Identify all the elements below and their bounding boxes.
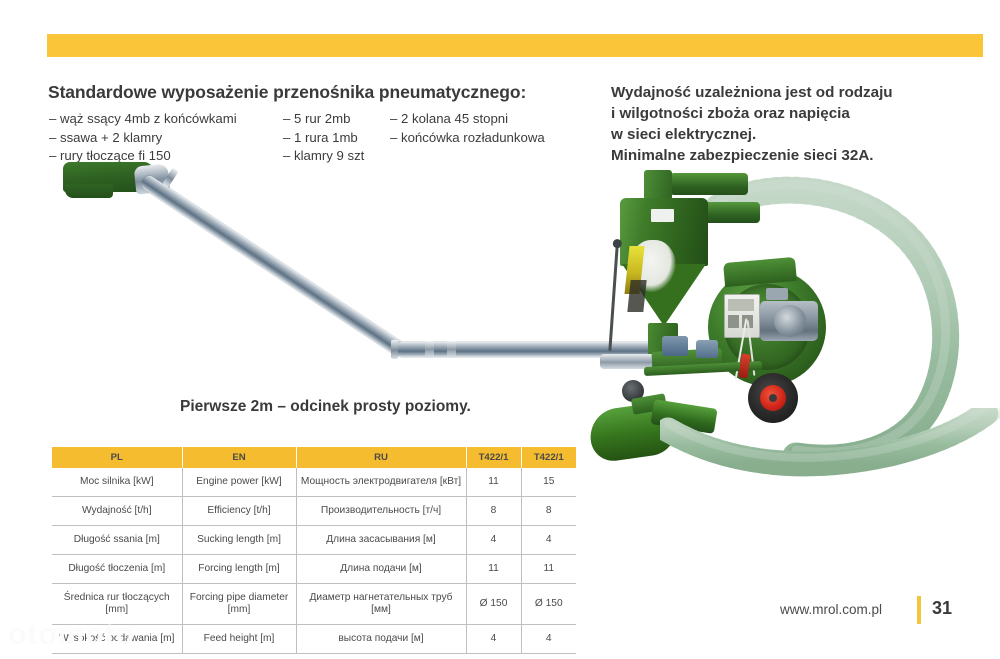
cell-value-1: 4 <box>466 526 521 555</box>
cell-value-1: 4 <box>466 625 521 654</box>
cell-ru: высота подачи [м] <box>296 625 466 654</box>
column-header-en: EN <box>182 447 296 468</box>
cell-en: Forcing pipe diameter [mm] <box>182 584 296 625</box>
website-link[interactable]: www.mrol.com.pl <box>780 602 882 617</box>
cell-value-2: Ø 150 <box>521 584 576 625</box>
cell-value-1: Ø 150 <box>466 584 521 625</box>
photo-forcing-pipe <box>55 160 675 400</box>
list-item: – wąż ssący 4mb z końcówkami <box>49 110 237 129</box>
equipment-column-2: – 5 rur 2mb – 1 rura 1mb – klamry 9 szt <box>283 110 364 166</box>
pipe-diagonal-segment <box>139 173 406 357</box>
cell-value-2: 15 <box>521 468 576 497</box>
table-row: Moc silnika [kW] Engine power [kW] Мощно… <box>52 468 576 497</box>
cell-ru: Длина подачи [м] <box>296 555 466 584</box>
equipment-column-1: – wąż ssący 4mb z końcówkami – ssawa + 2… <box>49 110 237 166</box>
column-header-pl: PL <box>52 447 182 468</box>
gearbox-secondary <box>696 340 718 358</box>
cyclone-neck <box>644 170 672 200</box>
column-header-model-1: T422/1 <box>466 447 521 468</box>
cell-en: Forcing length [m] <box>182 555 296 584</box>
column-header-ru: RU <box>296 447 466 468</box>
performance-note: Wydajność uzależniona jest od rodzaju i … <box>611 82 1000 166</box>
cell-value-1: 8 <box>466 497 521 526</box>
table-row: Długość ssania [m] Sucking length [m] Дл… <box>52 526 576 555</box>
cell-value-1: 11 <box>466 555 521 584</box>
motor-fan-cover <box>774 305 806 337</box>
cell-ru: Длина засасывания [м] <box>296 526 466 555</box>
cell-en: Sucking length [m] <box>182 526 296 555</box>
cell-value-1: 11 <box>466 468 521 497</box>
top-accent-bar <box>47 34 983 57</box>
performance-note-line: Wydajność uzależniona jest od rodzaju <box>611 82 1000 103</box>
table-row: Długość tłoczenia [m] Forcing length [m]… <box>52 555 576 584</box>
cell-value-2: 11 <box>521 555 576 584</box>
cell-ru: Мощность электродвигателя [кВт] <box>296 468 466 497</box>
watermark: otomoto <box>8 618 135 652</box>
pipe-collar <box>447 341 456 358</box>
cell-value-2: 4 <box>521 625 576 654</box>
motor-terminal-box <box>766 288 788 300</box>
cell-pl: Moc silnika [kW] <box>52 468 182 497</box>
cell-en: Engine power [kW] <box>182 468 296 497</box>
pipe-collar <box>425 341 434 358</box>
cyclone-dark-stripe <box>627 280 646 312</box>
list-item: – końcówka rozładunkowa <box>390 129 545 148</box>
equipment-column-3: – 2 kolana 45 stopni – końcówka rozładun… <box>390 110 545 147</box>
cell-en: Feed height [m] <box>182 625 296 654</box>
cell-ru: Производительность [т/ч] <box>296 497 466 526</box>
list-item: – 2 kolana 45 stopni <box>390 110 545 129</box>
footer-divider <box>917 596 921 624</box>
performance-note-line: w sieci elektrycznej. <box>611 124 1000 145</box>
list-item: – ssawa + 2 klamry <box>49 129 237 148</box>
list-item: – 5 rur 2mb <box>283 110 364 129</box>
column-header-model-2: T422/1 <box>521 447 576 468</box>
performance-note-line: i wilgotności zboża oraz napięcia <box>611 103 1000 124</box>
pipe-joint <box>391 340 398 359</box>
cyclone-outlet-pipe <box>670 173 748 195</box>
table-row: Wydajność [t/h] Efficiency [t/h] Произво… <box>52 497 576 526</box>
list-item: – 1 rura 1mb <box>283 129 364 148</box>
page-footer: www.mrol.com.pl 31 <box>780 598 1000 624</box>
catalog-page: Standardowe wyposażenie przenośnika pneu… <box>0 0 1000 659</box>
cell-pl: Długość tłoczenia [m] <box>52 555 182 584</box>
cell-ru: Диаметр нагнетательных труб [мм] <box>296 584 466 625</box>
page-title: Standardowe wyposażenie przenośnika pneu… <box>48 82 608 103</box>
cyclone-label-plate <box>651 209 674 222</box>
cell-value-2: 8 <box>521 497 576 526</box>
cell-pl: Wydajność [t/h] <box>52 497 182 526</box>
cell-en: Efficiency [t/h] <box>182 497 296 526</box>
photo-pneumatic-conveyor <box>600 168 1000 488</box>
table-header-row: PL EN RU T422/1 T422/1 <box>52 447 576 468</box>
photo-caption: Pierwsze 2m – odcinek prosty poziomy. <box>180 398 471 416</box>
suction-hose-lower <box>660 408 1000 498</box>
gearbox <box>662 336 688 356</box>
cell-pl: Długość ssania [m] <box>52 526 182 555</box>
page-number: 31 <box>932 598 952 619</box>
cell-value-2: 4 <box>521 526 576 555</box>
